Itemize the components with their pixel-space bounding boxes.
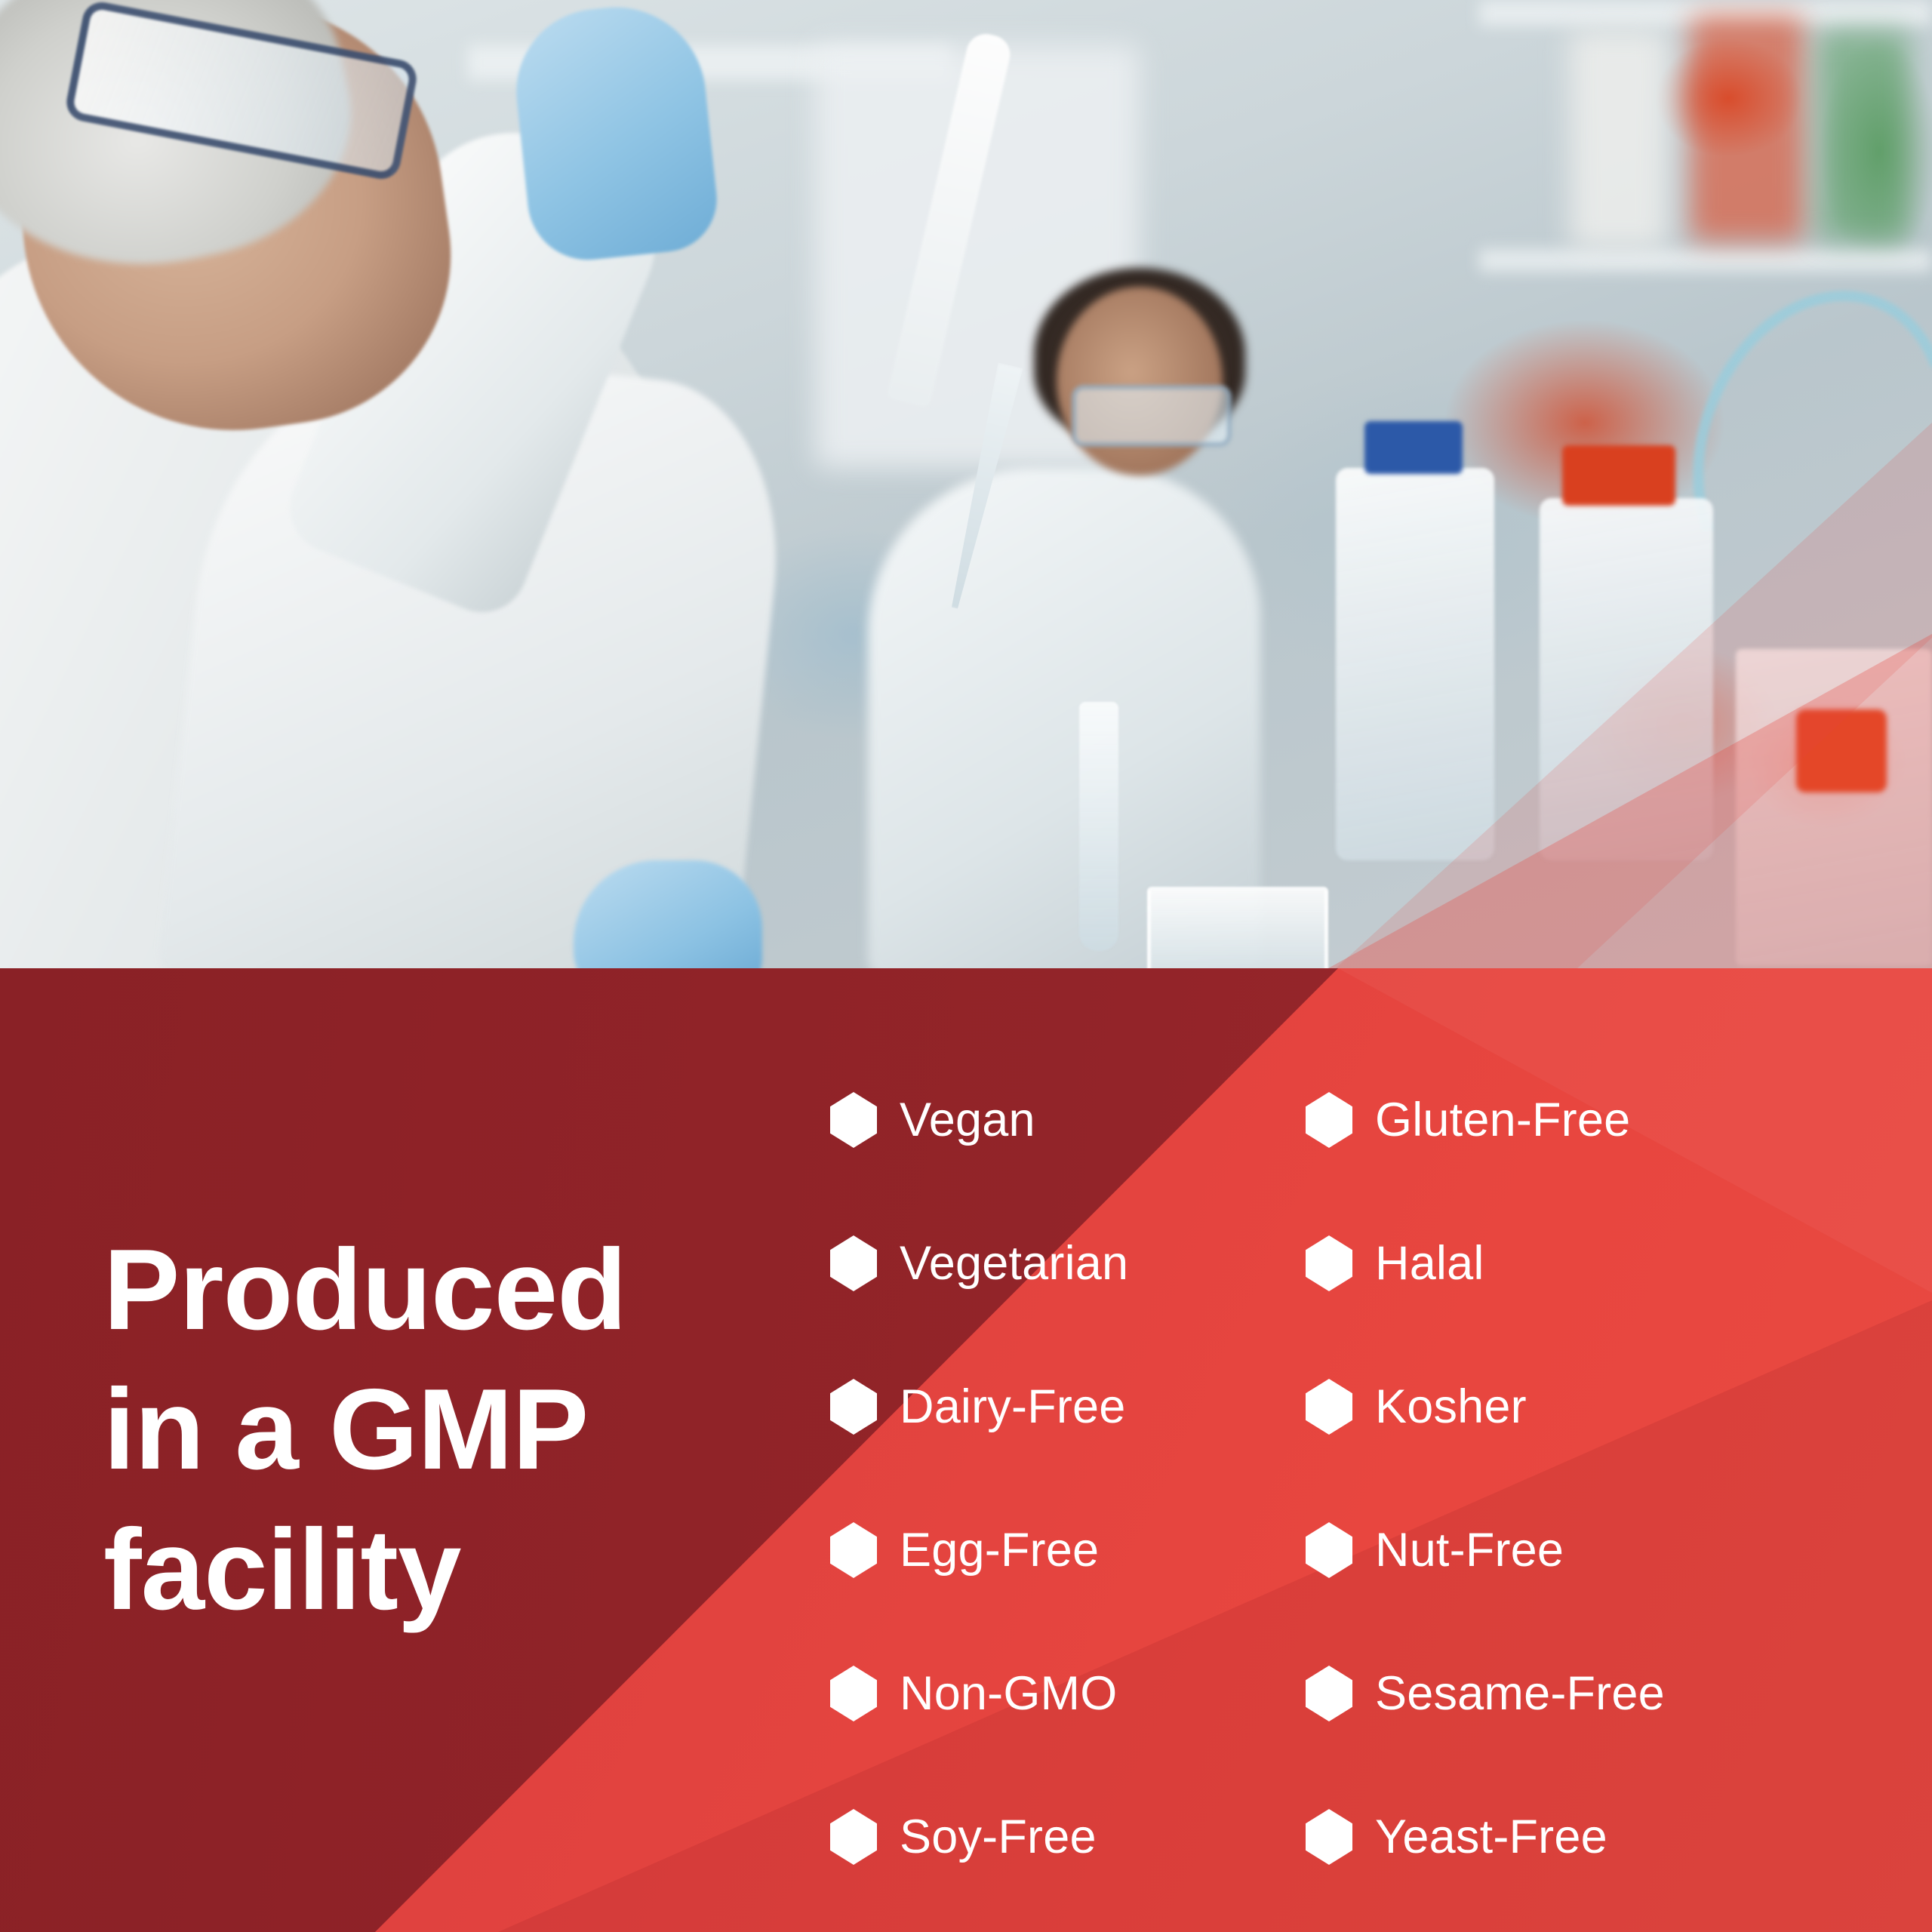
badge-column-right: Gluten-Free Halal Kosher Nut-Free Sesame… <box>1306 1048 1834 1909</box>
headline-line-2: in a GMP <box>103 1360 768 1500</box>
list-item: Halal <box>1306 1192 1834 1335</box>
headline-line-3: facility <box>103 1500 768 1640</box>
badge-label: Vegetarian <box>900 1240 1128 1287</box>
hexagon-bullet-icon <box>1306 1379 1375 1435</box>
hexagon-bullet-icon <box>1306 1092 1375 1148</box>
shelf-bottle <box>1690 15 1804 241</box>
list-item: Sesame-Free <box>1306 1622 1834 1765</box>
badge-label: Egg-Free <box>900 1527 1099 1574</box>
badge-label: Nut-Free <box>1375 1527 1564 1574</box>
hexagon-bullet-icon <box>830 1522 900 1578</box>
list-item: Vegan <box>830 1048 1306 1192</box>
badge-label: Sesame-Free <box>1375 1670 1665 1718</box>
hexagon-bullet-icon <box>1306 1235 1375 1291</box>
hexagon-bullet-icon <box>830 1666 900 1721</box>
list-item: Soy-Free <box>830 1765 1306 1909</box>
list-item: Vegetarian <box>830 1192 1306 1335</box>
shelf-bottle <box>1819 30 1909 241</box>
badge-label: Vegan <box>900 1097 1035 1144</box>
beaker <box>1147 887 1328 968</box>
badge-label: Soy-Free <box>900 1814 1097 1861</box>
badge-label: Kosher <box>1375 1383 1527 1431</box>
second-scientist-goggles <box>1072 385 1232 447</box>
hexagon-bullet-icon <box>830 1809 900 1865</box>
hero-photo <box>0 0 1932 968</box>
badge-label: Dairy-Free <box>900 1383 1126 1431</box>
badge-label: Halal <box>1375 1240 1484 1287</box>
hexagon-bullet-icon <box>1306 1809 1375 1865</box>
badge-label: Gluten-Free <box>1375 1097 1630 1144</box>
panel-content: Produced in a GMP facility Vegan Vegetar… <box>0 968 1932 1932</box>
second-scientist-head <box>1057 287 1223 475</box>
list-item: Dairy-Free <box>830 1335 1306 1478</box>
page-title: Produced in a GMP facility <box>103 1220 768 1640</box>
list-item: Egg-Free <box>830 1478 1306 1622</box>
hexagon-bullet-icon <box>830 1235 900 1291</box>
badge-label: Non-GMO <box>900 1670 1117 1718</box>
test-tube <box>1079 702 1118 951</box>
headline-line-1: Produced <box>103 1220 768 1360</box>
lab-bottle-blue-cap <box>1336 468 1494 860</box>
list-item: Nut-Free <box>1306 1478 1834 1622</box>
list-item: Non-GMO <box>830 1622 1306 1765</box>
promo-graphic: Produced in a GMP facility Vegan Vegetar… <box>0 0 1932 1932</box>
hexagon-bullet-icon <box>830 1379 900 1435</box>
hexagon-bullet-icon <box>1306 1522 1375 1578</box>
list-item: Yeast-Free <box>1306 1765 1834 1909</box>
shelf-edge <box>1479 249 1932 272</box>
badge-lists: Vegan Vegetarian Dairy-Free Egg-Free Non… <box>830 1048 1902 1909</box>
hexagon-bullet-icon <box>830 1092 900 1148</box>
list-item: Gluten-Free <box>1306 1048 1834 1192</box>
hexagon-bullet-icon <box>1306 1666 1375 1721</box>
list-item: Kosher <box>1306 1335 1834 1478</box>
shelf-bottle <box>1570 30 1668 249</box>
badge-column-left: Vegan Vegetarian Dairy-Free Egg-Free Non… <box>830 1048 1306 1909</box>
badge-label: Yeast-Free <box>1375 1814 1607 1861</box>
